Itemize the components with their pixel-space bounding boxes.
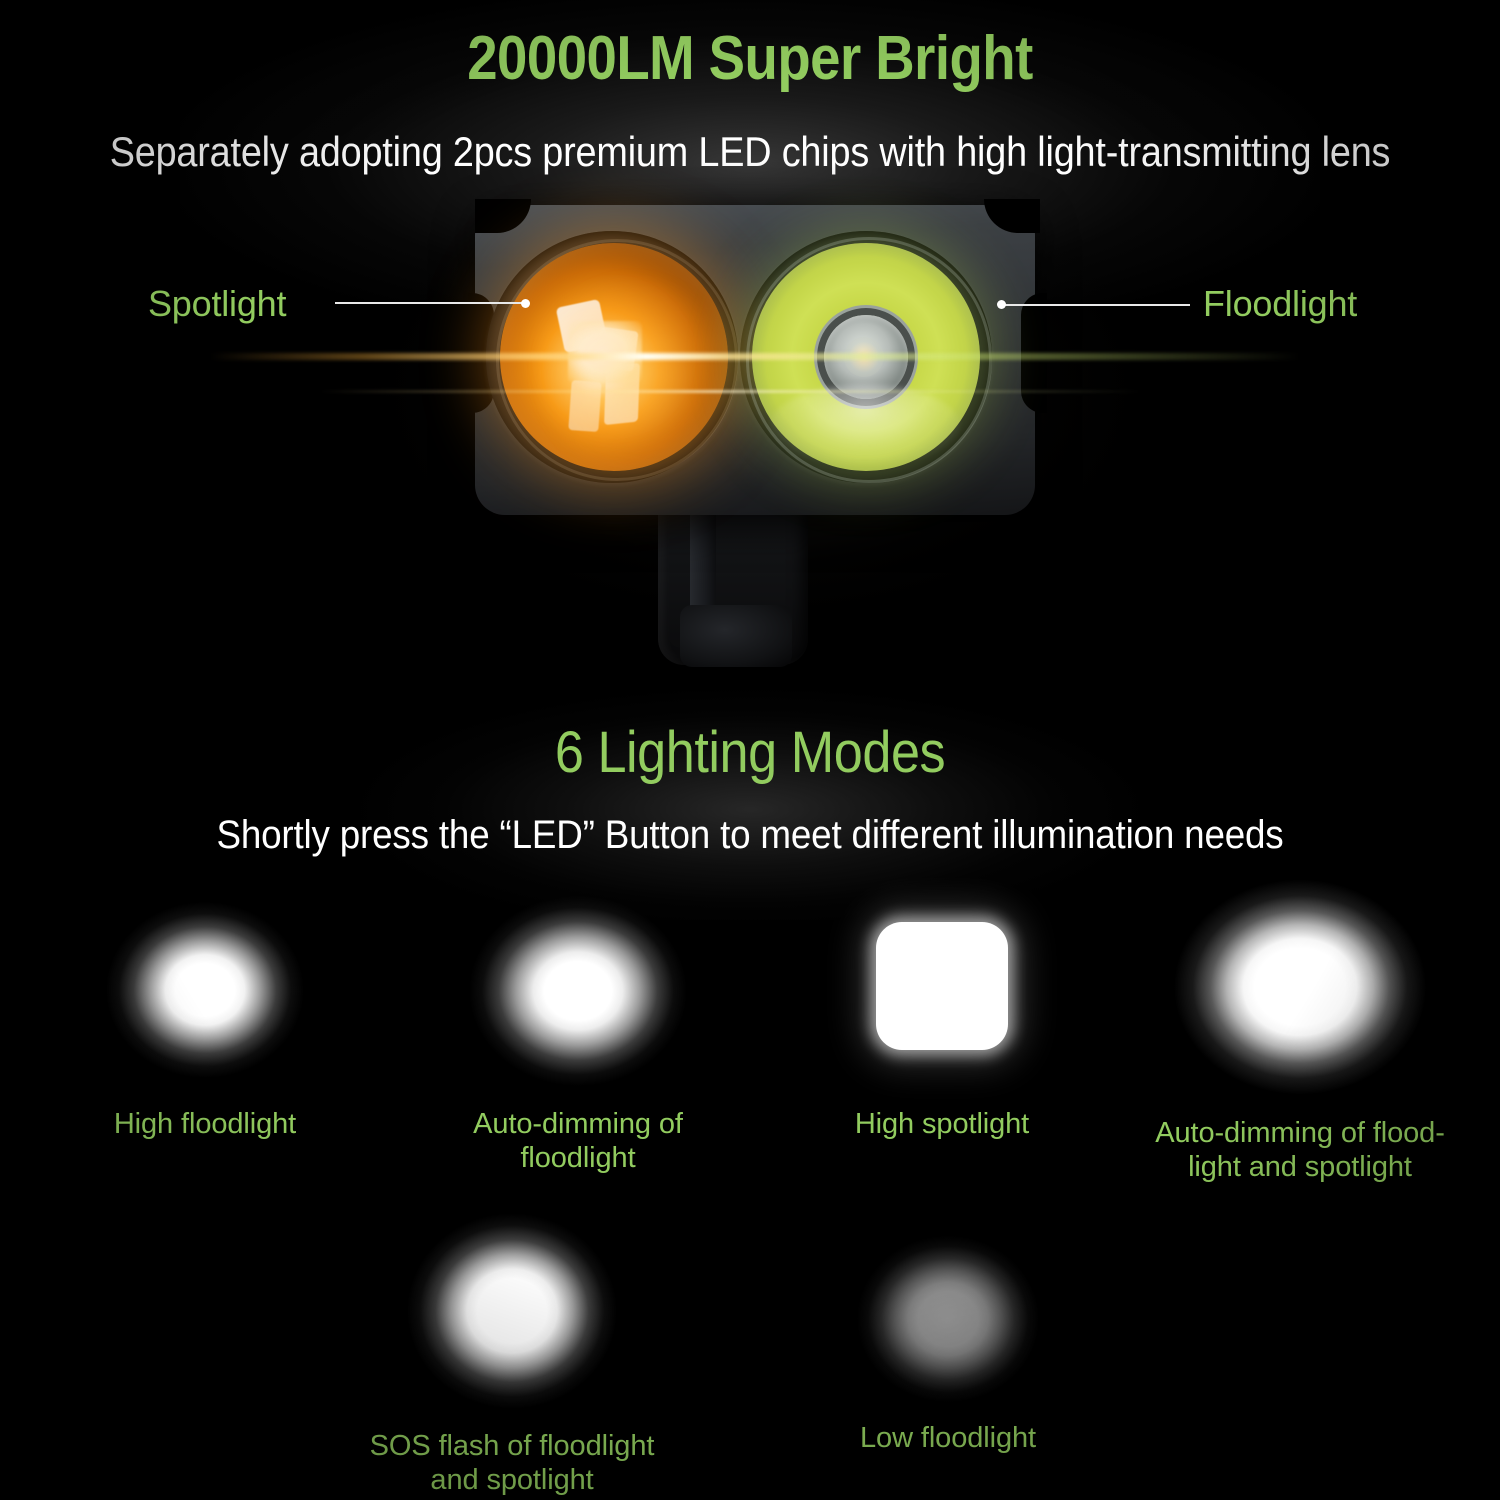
mode-label-6-line1: Low floodlight	[860, 1422, 1036, 1454]
mode-label-3-line1: High spotlight	[855, 1108, 1029, 1140]
mode-label-4-line1: Auto-dimming of flood-	[1155, 1117, 1445, 1149]
mode-label-6: Low floodlight	[783, 1422, 1113, 1456]
mode-label-5-line2: and spotlight	[430, 1464, 593, 1496]
floodlight-lens-rim	[746, 237, 992, 483]
lens-flare-streak	[210, 353, 1300, 360]
callout-leader-line-spotlight	[335, 302, 527, 304]
page-title: 20000LM Super Bright	[90, 26, 1410, 91]
mount-bracket-foot	[680, 605, 792, 667]
modes-subtitle: Shortly press the “LED” Button to meet d…	[60, 812, 1440, 858]
infographic-canvas: 20000LM Super Bright Separately adopting…	[0, 0, 1500, 1500]
mode-label-1-line1: High floodlight	[114, 1108, 296, 1140]
callout-label-spotlight: Spotlight	[148, 283, 286, 325]
beam-preview-3	[876, 922, 1008, 1050]
mode-label-5: SOS flash of floodlight and spotlight	[347, 1430, 677, 1497]
beam-preview-5	[353, 1192, 671, 1430]
beam-preview-6	[810, 1215, 1086, 1423]
modes-title: 6 Lighting Modes	[75, 723, 1425, 784]
beam-preview-1	[55, 880, 355, 1100]
beam-preview-2	[418, 875, 738, 1107]
product-photo-lamp-head	[440, 185, 1080, 695]
callout-leader-line-floodlight	[1000, 304, 1190, 306]
lens-flare-bloom	[536, 277, 732, 473]
lens-flare-streak-secondary	[320, 390, 1140, 393]
beam-preview-4	[1125, 862, 1475, 1112]
mode-label-2: Auto-dimming of floodlight	[413, 1108, 743, 1175]
mode-label-2-line2: floodlight	[520, 1142, 635, 1174]
callout-anchor-dot-spotlight	[521, 299, 530, 308]
mode-label-1: High floodlight	[40, 1108, 370, 1142]
mode-label-3: High spotlight	[777, 1108, 1107, 1142]
mode-label-2-line1: Auto-dimming of	[473, 1108, 683, 1140]
mode-label-5-line1: SOS flash of floodlight	[370, 1430, 655, 1462]
callout-label-floodlight: Floodlight	[1203, 283, 1357, 325]
callout-anchor-dot-floodlight	[997, 300, 1006, 309]
mode-label-4: Auto-dimming of flood- light and spotlig…	[1135, 1117, 1465, 1184]
mode-label-4-line2: light and spotlight	[1188, 1151, 1412, 1183]
